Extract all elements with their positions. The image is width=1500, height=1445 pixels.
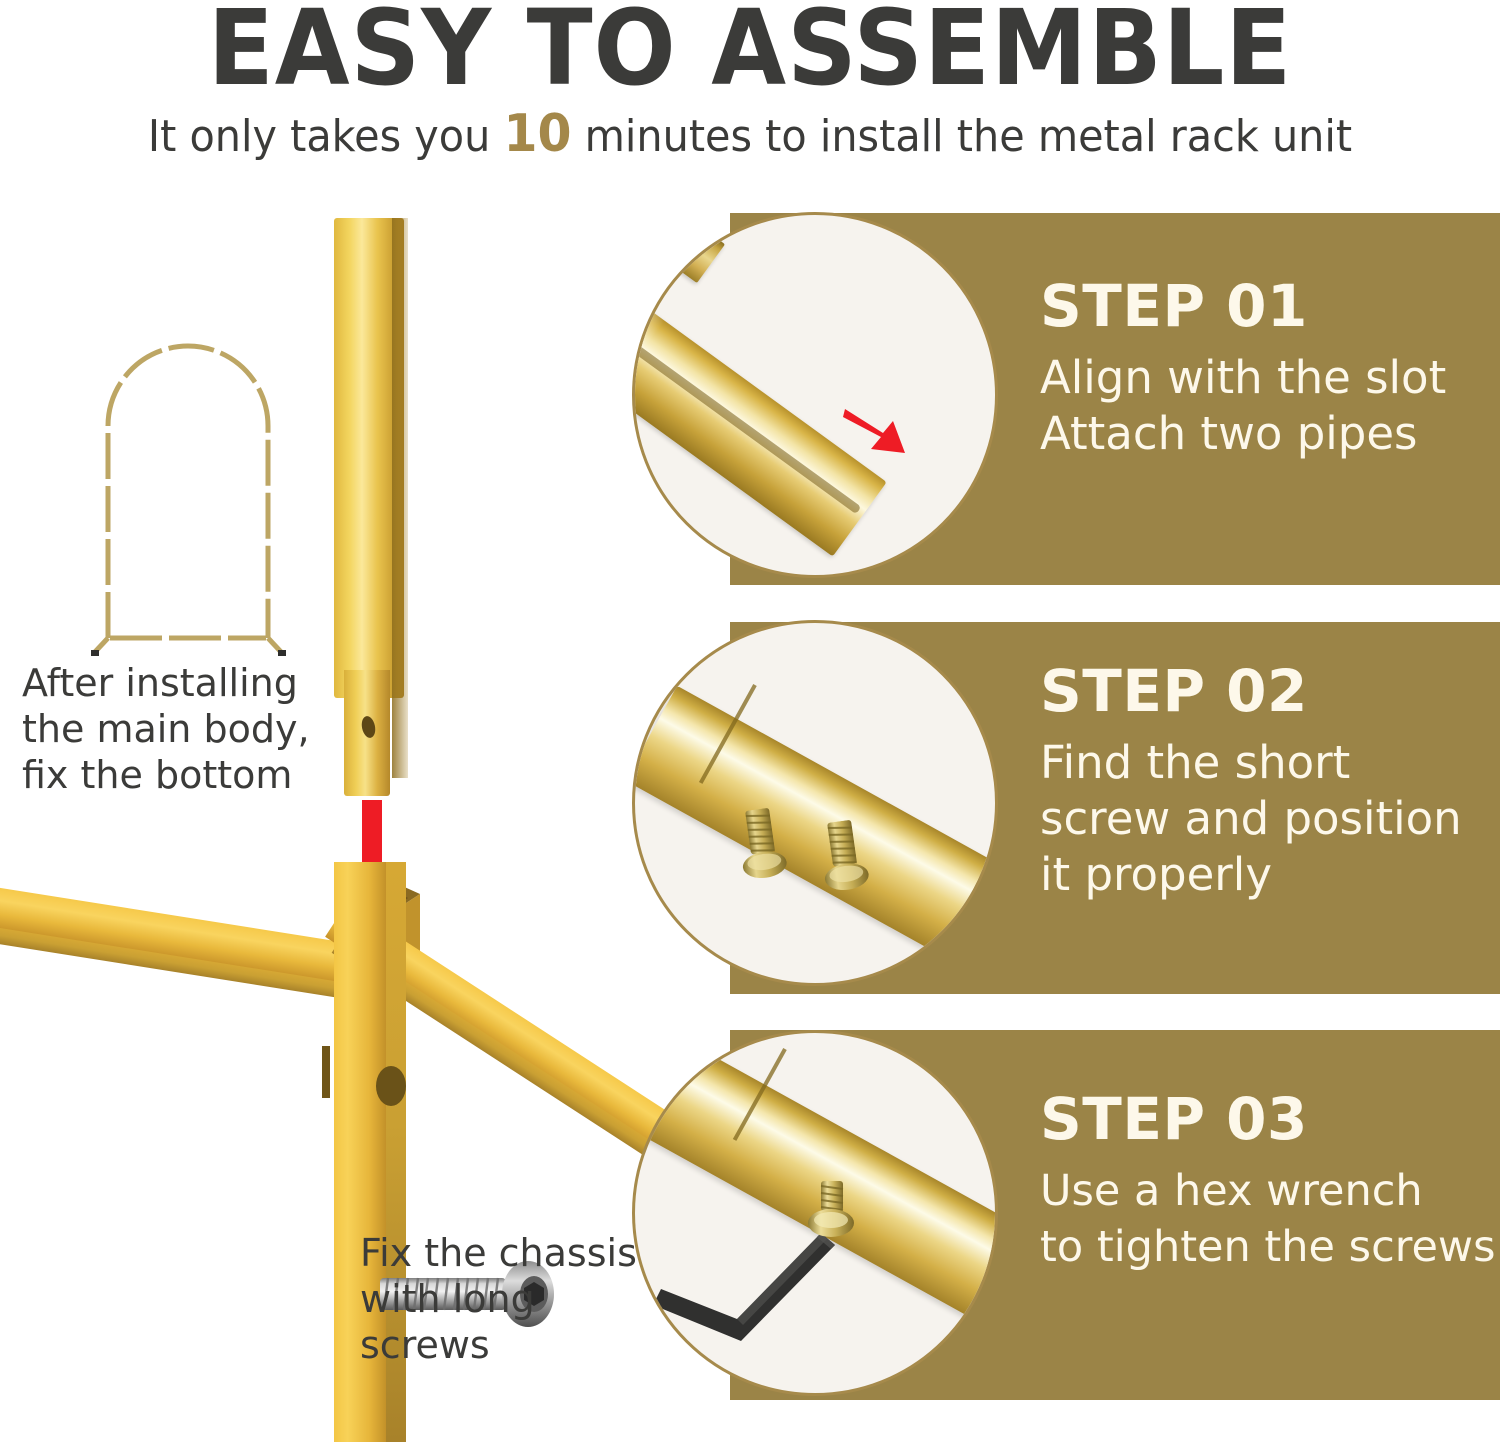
gold-pipe-joined (632, 686, 998, 984)
step-2-photo (632, 620, 998, 986)
subtitle-highlight-number: 10 (503, 104, 571, 164)
step-2-line3: it properly (1040, 848, 1462, 902)
assembly-diagram: After installing the main body, fix the … (0, 200, 640, 1445)
step-2-text: STEP 02 Find the short screw and positio… (1040, 660, 1462, 902)
page-title: EASY TO ASSEMBLE (53, 0, 1448, 100)
step-3-photo (632, 1030, 998, 1396)
step-3-heading: STEP 03 (1040, 1088, 1495, 1150)
arch-frame-outline-icon (72, 308, 304, 658)
caption-fix-bottom: After installing the main body, fix the … (22, 660, 322, 798)
subtitle-after: minutes to install the metal rack unit (571, 111, 1352, 162)
step-2-line2: screw and position (1040, 792, 1462, 846)
vertical-pipe-shadow (392, 218, 408, 778)
step-1-heading: STEP 01 (1040, 275, 1446, 337)
step-1-photo (632, 212, 998, 578)
pipe-connector-stub (632, 212, 725, 283)
step-1-line1: Align with the slot (1040, 351, 1446, 405)
step-3-text: STEP 03 Use a hex wrench to tighten the … (1040, 1088, 1495, 1274)
step-2-line1: Find the short (1040, 736, 1462, 790)
step-3-line1: Use a hex wrench (1040, 1164, 1495, 1218)
subtitle-before: It only takes you (148, 111, 504, 162)
short-screw-icon (734, 806, 790, 884)
chassis-screw-hole (376, 1066, 406, 1106)
step-1-line2: Attach two pipes (1040, 407, 1446, 461)
short-screw-icon (816, 818, 872, 896)
caption-fix-chassis: Fix the chassis with long screws (360, 1230, 660, 1368)
header: EASY TO ASSEMBLE It only takes you 10 mi… (0, 0, 1500, 185)
short-screw-icon (807, 1181, 855, 1247)
step-3-line2: to tighten the screws (1040, 1220, 1495, 1274)
align-direction-arrow-icon (843, 405, 929, 461)
infographic-page: EASY TO ASSEMBLE It only takes you 10 mi… (0, 0, 1500, 1445)
step-2-heading: STEP 02 (1040, 660, 1462, 722)
page-subtitle: It only takes you 10 minutes to install … (45, 108, 1455, 163)
chassis-slot-notch (322, 1046, 330, 1098)
step-1-text: STEP 01 Align with the slot Attach two p… (1040, 275, 1446, 461)
